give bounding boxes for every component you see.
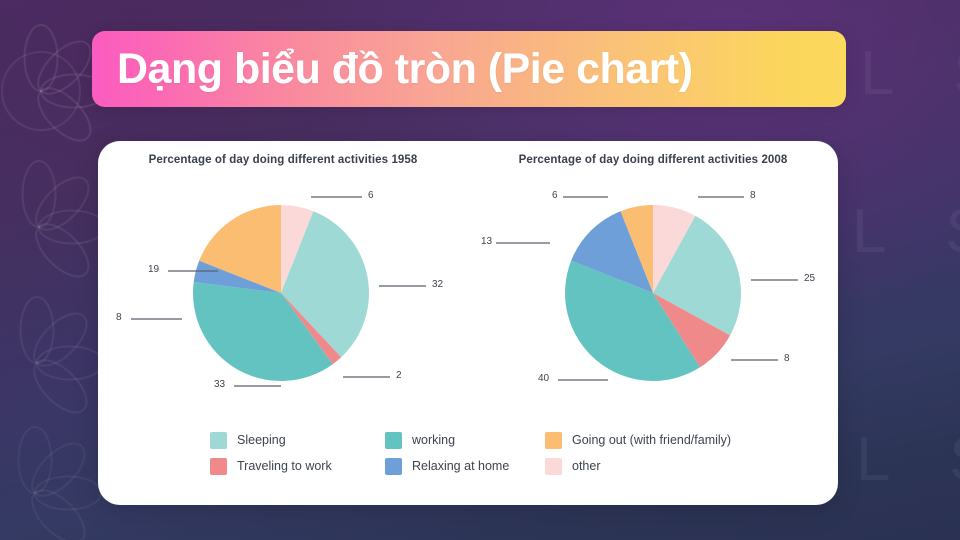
pie-area-2008: 8 25 8 40 13 6 xyxy=(468,175,838,405)
pie-label-traveling: 8 xyxy=(784,353,790,364)
pie-label-working: 33 xyxy=(214,379,225,390)
watermark-text: L S A xyxy=(852,196,960,267)
pie-label-other: 6 xyxy=(368,190,374,201)
chart-title-1958: Percentage of day doing different activi… xyxy=(98,153,468,169)
star-ornament-icon xyxy=(0,288,112,438)
legend-item-going-out: Going out (with friend/family) xyxy=(545,432,830,449)
pie-label-going-out: 6 xyxy=(552,190,558,201)
pie-chart-2008: Percentage of day doing different activi… xyxy=(468,153,838,405)
legend-label-going-out: Going out (with friend/family) xyxy=(572,433,731,447)
legend-item-sleeping: Sleeping xyxy=(210,432,385,449)
legend-swatch-sleeping xyxy=(210,432,227,449)
chart-card: Percentage of day doing different activi… xyxy=(98,141,838,505)
legend-item-working: working xyxy=(385,432,545,449)
legend-swatch-traveling xyxy=(210,458,227,475)
legend-label-sleeping: Sleeping xyxy=(237,433,286,447)
legend-item-traveling: Traveling to work xyxy=(210,458,385,475)
pie-label-going-out: 19 xyxy=(148,264,159,275)
pie-label-relaxing: 13 xyxy=(481,236,492,247)
legend-item-other: other xyxy=(545,458,830,475)
charts-row: Percentage of day doing different activi… xyxy=(98,153,838,405)
pie-label-traveling: 2 xyxy=(396,370,402,381)
legend-swatch-other xyxy=(545,458,562,475)
chart-legend: Sleeping working Going out (with friend/… xyxy=(210,427,830,479)
legend-swatch-relaxing xyxy=(385,458,402,475)
chart-title-2008: Percentage of day doing different activi… xyxy=(468,153,838,169)
pie-label-other: 8 xyxy=(750,190,756,201)
slide-canvas: L S A L S A L S A Dạng biểu đồ tròn (Pie… xyxy=(0,0,960,540)
pie-label-sleeping: 32 xyxy=(432,279,443,290)
legend-swatch-going-out xyxy=(545,432,562,449)
legend-label-relaxing: Relaxing at home xyxy=(412,459,509,473)
legend-label-working: working xyxy=(412,433,455,447)
page-title: Dạng biểu đồ tròn (Pie chart) xyxy=(92,48,693,91)
watermark-text: L S A xyxy=(856,424,960,495)
pie-label-working: 40 xyxy=(538,373,549,384)
pie-area-1958: 6 32 2 33 8 19 xyxy=(98,175,468,405)
star-ornament-icon xyxy=(0,418,110,540)
legend-label-other: other xyxy=(572,459,601,473)
title-banner: Dạng biểu đồ tròn (Pie chart) xyxy=(92,31,846,107)
legend-label-traveling: Traveling to work xyxy=(237,459,332,473)
pie-label-relaxing: 8 xyxy=(116,312,122,323)
star-ornament-icon xyxy=(0,152,114,302)
watermark-text: L S A xyxy=(860,38,960,109)
pie-chart-1958: Percentage of day doing different activi… xyxy=(98,153,468,405)
legend-swatch-working xyxy=(385,432,402,449)
legend-item-relaxing: Relaxing at home xyxy=(385,458,545,475)
pie-label-sleeping: 25 xyxy=(804,273,815,284)
